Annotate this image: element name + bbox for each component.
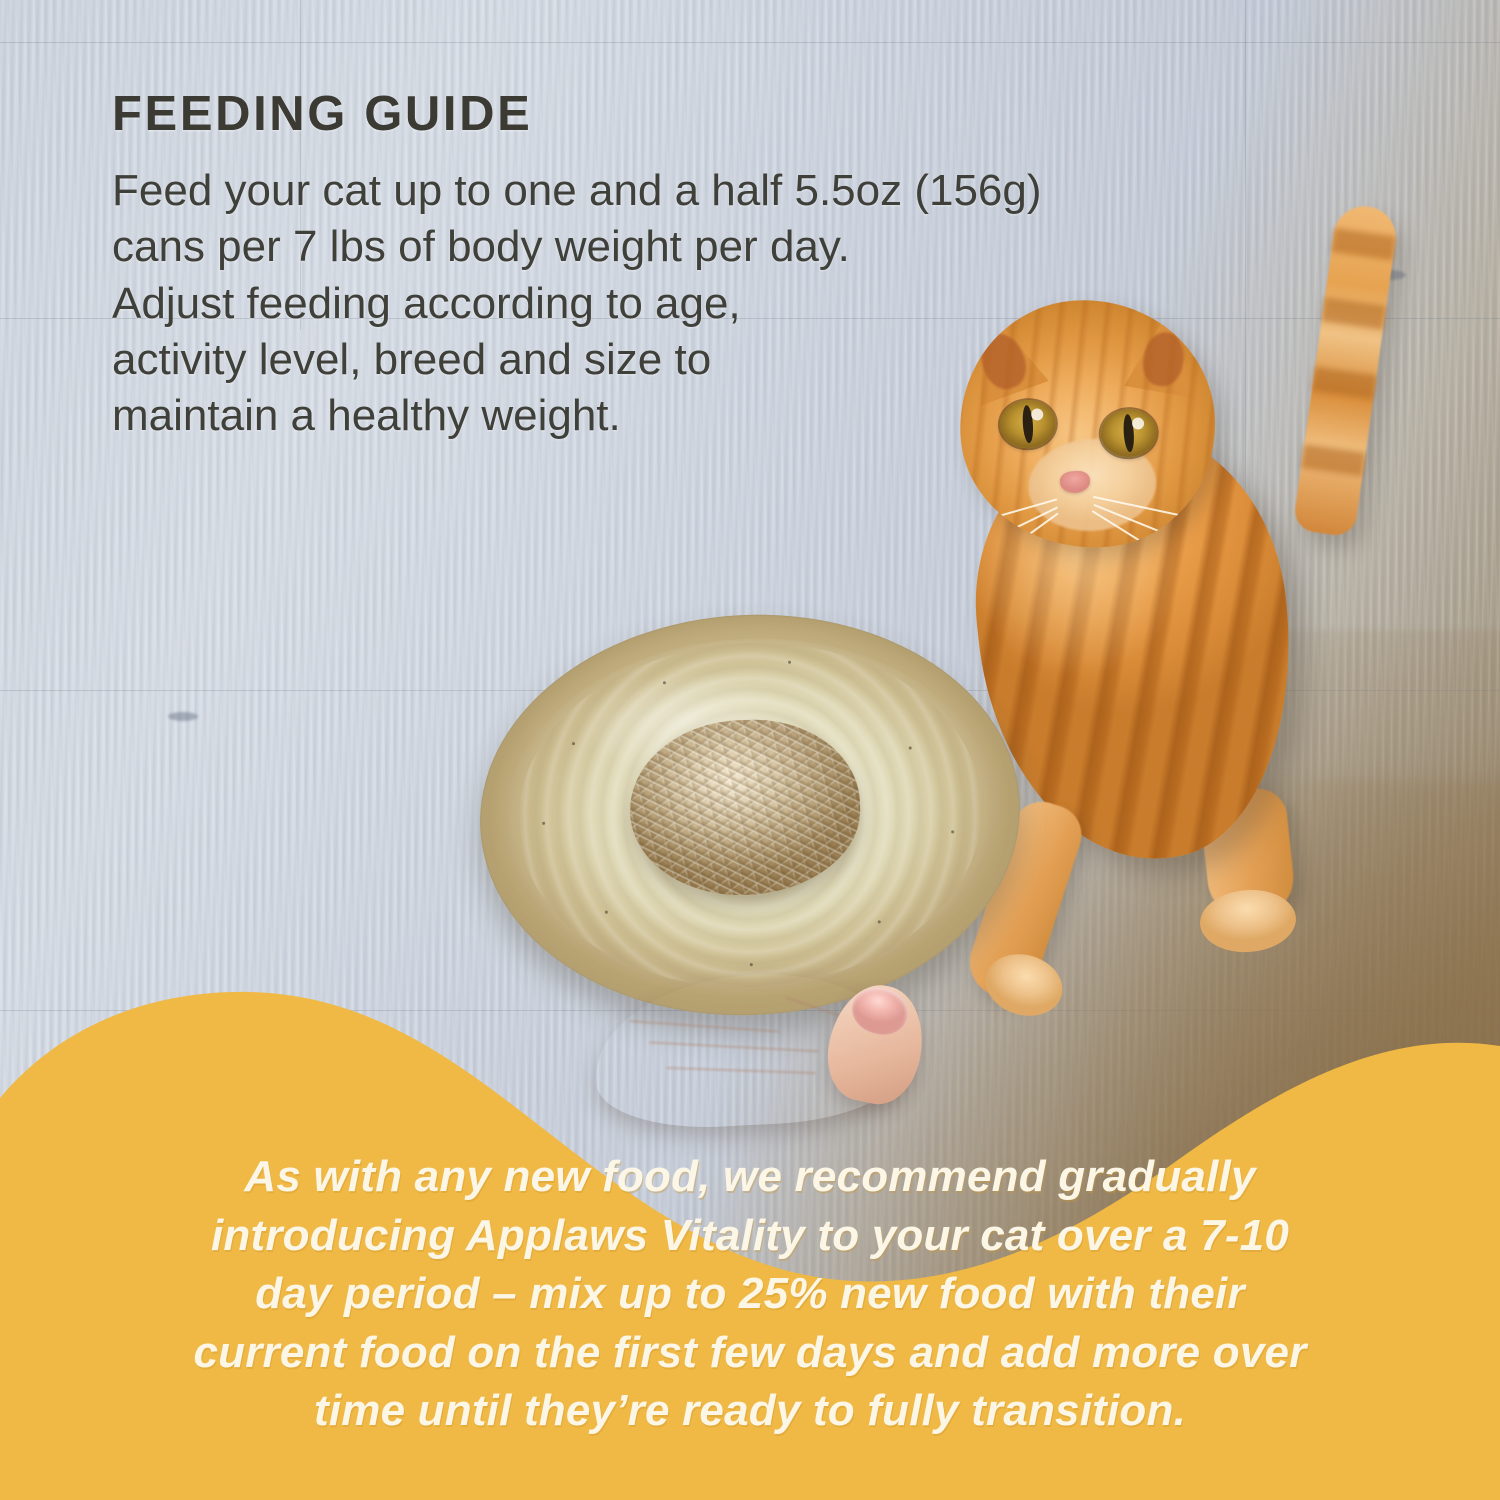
feeding-line: Feed your cat up to one and a half 5.5oz… (112, 163, 1287, 219)
banner-copy: As with any new food, we recommend gradu… (60, 1148, 1440, 1441)
feeding-guide-text-block: FEEDING GUIDE Feed your cat up to one an… (112, 90, 1292, 445)
transition-advice-banner: As with any new food, we recommend gradu… (0, 980, 1500, 1500)
feeding-line: cans per 7 lbs of body weight per day. (112, 219, 1287, 275)
feeding-instructions: Feed your cat up to one and a half 5.5oz… (112, 163, 1287, 445)
product-feeding-guide-image: FEEDING GUIDE Feed your cat up to one an… (0, 0, 1500, 1500)
feeding-line: activity level, breed and size to (112, 332, 1287, 388)
feeding-line: maintain a healthy weight. (112, 388, 1287, 444)
banner-line: current food on the first few days and a… (60, 1324, 1440, 1383)
shredded-chicken-food (627, 716, 863, 899)
feeding-line: Adjust feeding according to age, (112, 276, 1287, 332)
banner-line: introducing Applaws Vitality to your cat… (60, 1207, 1440, 1266)
banner-line: time until they’re ready to fully transi… (60, 1382, 1440, 1441)
page-title: FEEDING GUIDE (112, 90, 1292, 139)
banner-line: As with any new food, we recommend gradu… (60, 1148, 1440, 1207)
banner-line: day period – mix up to 25% new food with… (60, 1265, 1440, 1324)
